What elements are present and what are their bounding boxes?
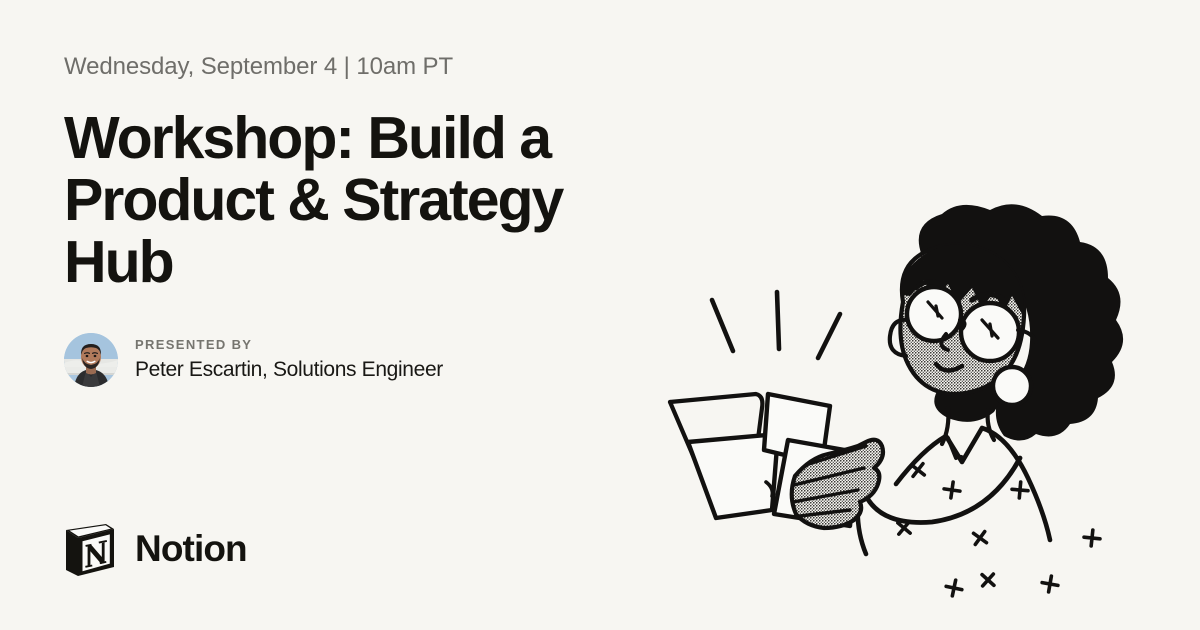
hero-illustration [660,196,1200,616]
notion-cube-icon [62,518,118,578]
event-promo-card: Wednesday, September 4 | 10am PT Worksho… [0,0,1200,630]
avatar [64,333,118,387]
presented-by-label: Presented by [135,337,443,352]
event-date-time: Wednesday, September 4 | 10am PT [64,52,684,82]
brand-name: Notion [135,530,247,567]
presenter-block: Presented by Peter Escartin, Solutions E… [64,333,684,387]
presenter-text: Presented by Peter Escartin, Solutions E… [135,337,443,382]
content-column: Wednesday, September 4 | 10am PT Worksho… [64,52,684,387]
shirt-pattern-marks [893,459,1101,598]
brand-lockup: Notion [62,518,247,578]
presenter-name: Peter Escartin, Solutions Engineer [135,357,443,382]
sparkle-lines [712,292,840,358]
page-title: Workshop: Build a Product & Strategy Hub [64,108,684,294]
